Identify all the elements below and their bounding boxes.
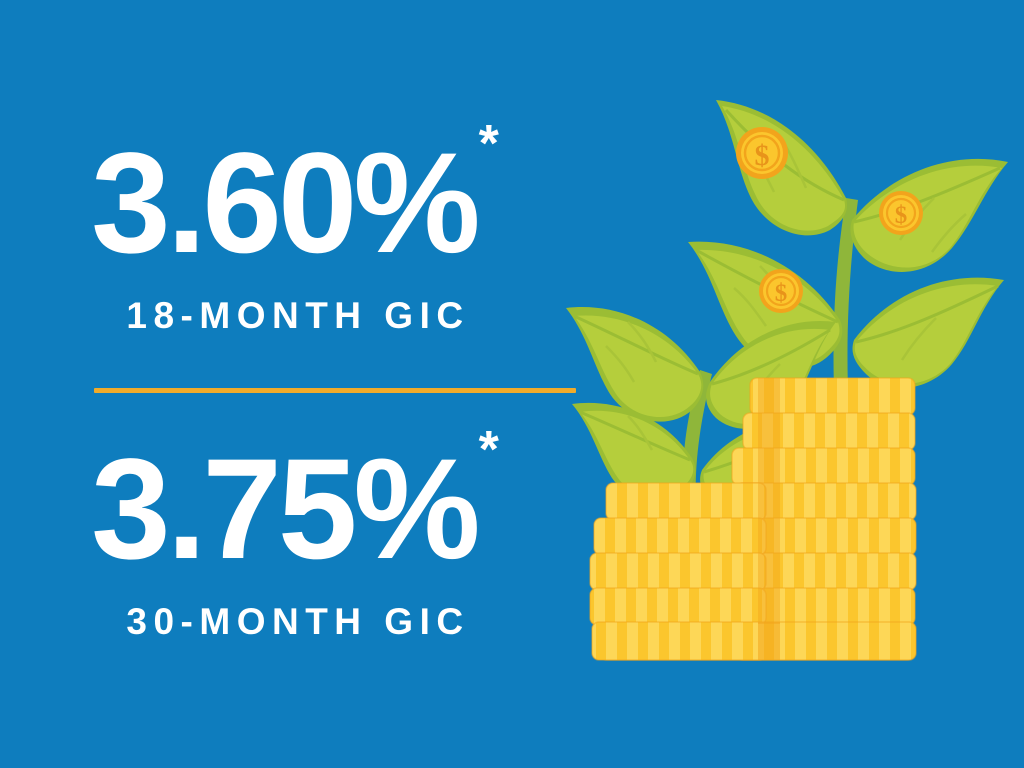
- tall-plant: $ $ $: [688, 100, 1008, 390]
- leaf-mid-right: [853, 278, 1005, 388]
- rate-block-18-month: 3.60%* 18-MONTH GIC: [0, 132, 590, 334]
- rate-value-30-month: 3.75%*: [0, 438, 590, 581]
- rate-number-30-month: 3.75: [91, 430, 353, 589]
- percent-symbol-30-month: %: [353, 430, 478, 589]
- rate-label-18-month: 18-MONTH GIC: [0, 297, 590, 334]
- promotional-rate-graphic: 3.60%* 18-MONTH GIC 3.75%* 30-MONTH GIC: [0, 0, 1024, 768]
- stack-overlap-shadow: [758, 378, 780, 624]
- dollar-coin-2: $: [879, 191, 923, 235]
- footnote-asterisk-30-month: *: [479, 421, 499, 479]
- section-divider: [94, 388, 576, 393]
- svg-text:$: $: [895, 202, 908, 229]
- rate-value-18-month: 3.60%*: [0, 132, 590, 275]
- coin-stack-base: [592, 622, 916, 660]
- svg-text:$: $: [755, 139, 770, 172]
- rates-panel: 3.60%* 18-MONTH GIC 3.75%* 30-MONTH GIC: [0, 0, 590, 768]
- svg-text:$: $: [775, 280, 788, 307]
- rate-block-30-month: 3.75%* 30-MONTH GIC: [0, 438, 590, 640]
- percent-symbol-18-month: %: [353, 124, 478, 283]
- dollar-coin-3: $: [759, 269, 803, 313]
- money-plant-illustration: $ $ $: [560, 70, 1024, 690]
- leaf-top-right: [851, 159, 1009, 272]
- rate-number-18-month: 3.60: [91, 124, 353, 283]
- dollar-coin-1: $: [736, 127, 788, 179]
- rate-label-30-month: 30-MONTH GIC: [0, 603, 590, 640]
- footnote-asterisk-18-month: *: [479, 115, 499, 173]
